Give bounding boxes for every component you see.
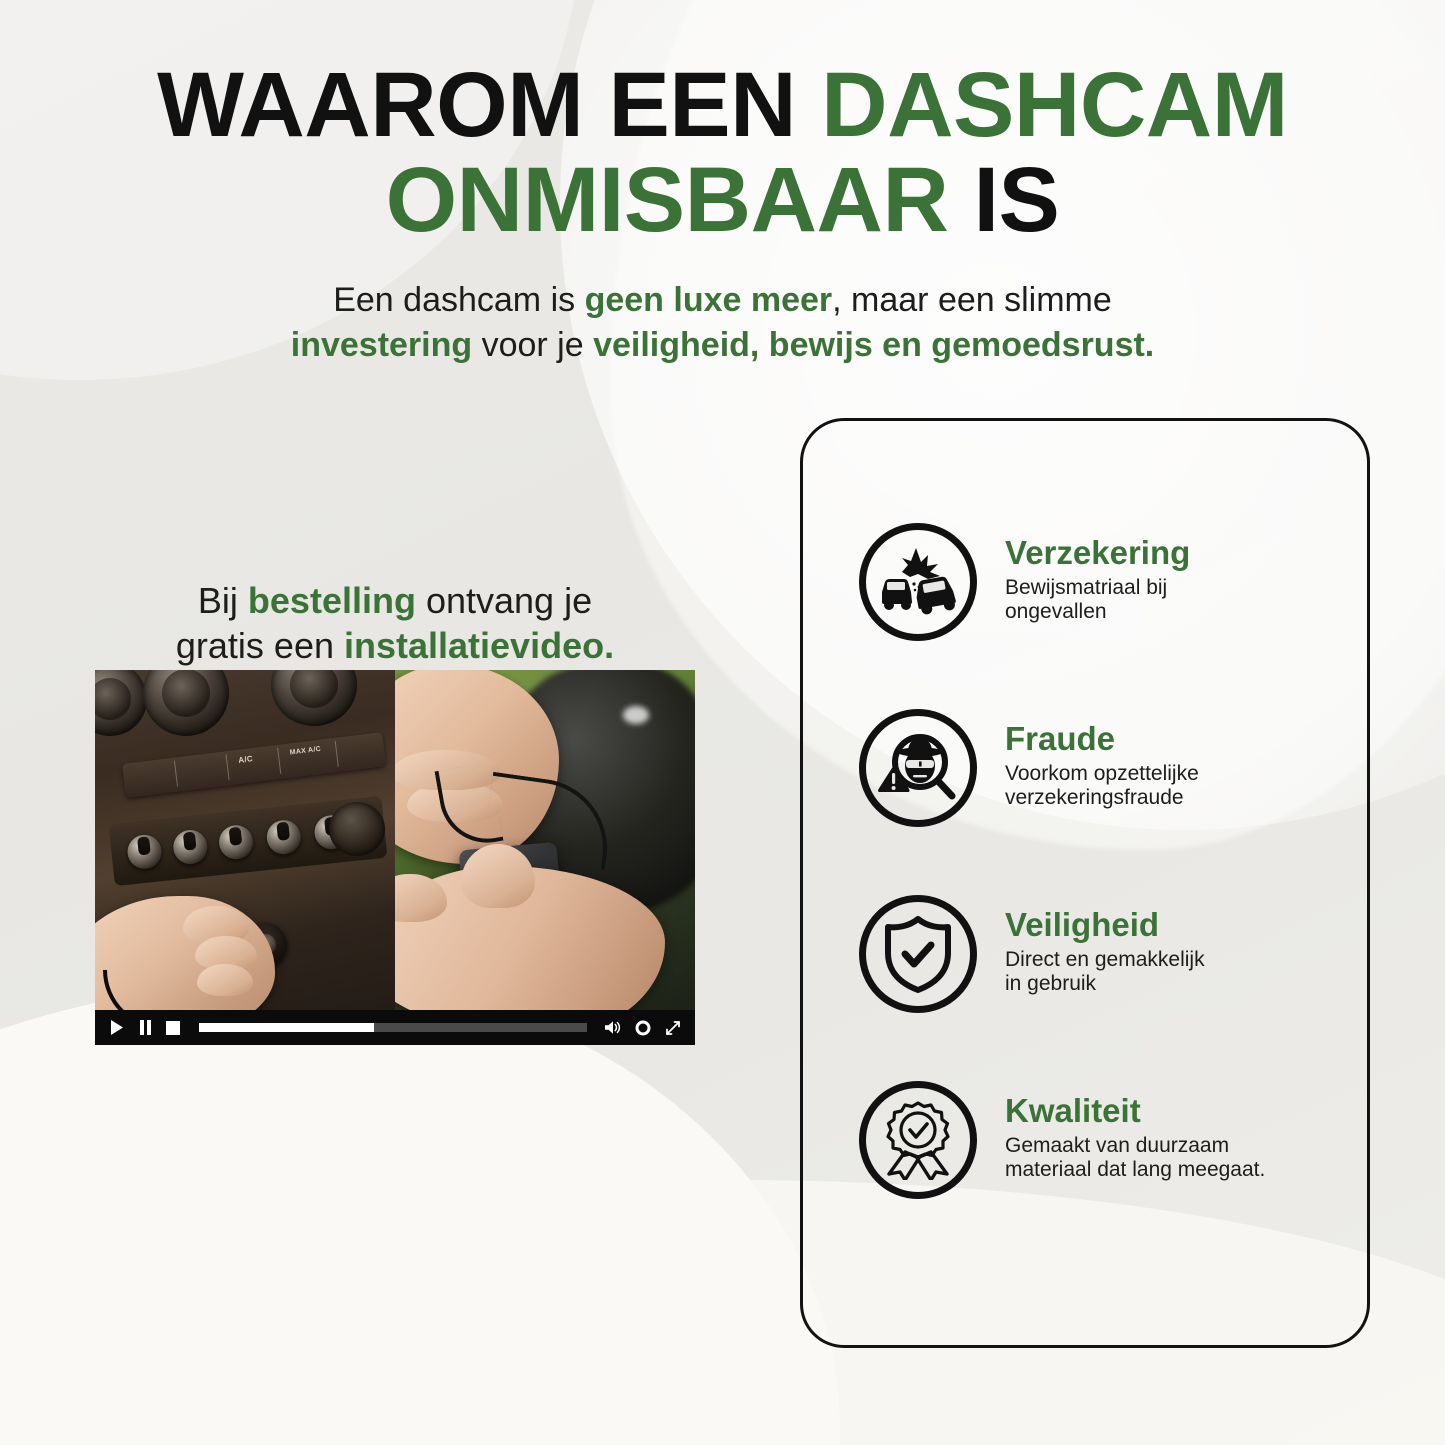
video-controls-bar[interactable]: [95, 1010, 695, 1045]
headline-line-2: ONMISBAAR IS: [0, 153, 1445, 248]
feature-text-verzekering: Verzekering Bewijsmatriaal bij ongevalle…: [977, 523, 1190, 625]
feature-description: Bewijsmatriaal bij ongevallen: [1005, 576, 1190, 625]
volume-icon[interactable]: [605, 1020, 621, 1036]
headline-line-1: WAAROM EEN DASHCAM: [0, 58, 1445, 153]
subtitle-line-2-highlight-b: veiligheid, bewijs en gemoedsrust.: [593, 326, 1154, 364]
feature-item-veiligheid[interactable]: Veiligheid Direct en gemakkelijk in gebr…: [859, 895, 1329, 1081]
feature-panel: Verzekering Bewijsmatriaal bij ongevalle…: [800, 418, 1370, 1348]
feature-text-fraude: Fraude Voorkom opzettelijke verzekerings…: [977, 709, 1199, 811]
car-crash-icon: [859, 523, 977, 641]
stop-icon[interactable]: [165, 1020, 181, 1036]
video-scene-dashcam: [395, 670, 695, 1010]
award-badge-icon: [859, 1081, 977, 1199]
air-vent-icon: [271, 670, 357, 726]
air-vent-icon: [143, 670, 229, 736]
headline-line-2-black: IS: [973, 149, 1059, 251]
subtitle-line-2-plain: voor je: [472, 326, 593, 364]
feature-list: Verzekering Bewijsmatriaal bij ongevalle…: [859, 523, 1329, 1267]
page-title: WAAROM EEN DASHCAM ONMISBAAR IS: [0, 58, 1445, 248]
feature-title: Kwaliteit: [1005, 1093, 1265, 1129]
fraud-magnifier-icon: [859, 709, 977, 827]
video-caption-highlight-a: bestelling: [248, 580, 416, 621]
power-cable: [103, 970, 257, 1010]
headline-line-2-green: ONMISBAAR: [386, 149, 974, 251]
climate-button-strip: A/C MAX A/C: [122, 732, 386, 798]
feature-description: Gemaakt van duurzaam materiaal dat lang …: [1005, 1134, 1265, 1183]
shield-check-icon: [859, 895, 977, 1013]
feature-description: Voorkom opzettelijke verzekeringsfraude: [1005, 762, 1199, 811]
headline-line-1-black: WAAROM EEN: [157, 54, 821, 156]
subtitle-line-1: Een dashcam is geen luxe meer, maar een …: [0, 278, 1445, 323]
video-caption-plain-b: ontvang je: [416, 580, 592, 621]
feature-text-veiligheid: Veiligheid Direct en gemakkelijk in gebr…: [977, 895, 1205, 997]
rotary-dial: [329, 802, 385, 856]
video-progress-bar[interactable]: [199, 1023, 587, 1032]
air-vent-icon: [95, 670, 147, 736]
subtitle-line-2: investering voor je veiligheid, bewijs e…: [0, 323, 1445, 368]
play-icon[interactable]: [109, 1020, 125, 1036]
video-caption-highlight-b: installatievideo.: [344, 625, 614, 666]
poster-canvas: WAAROM EEN DASHCAM ONMISBAAR IS Een dash…: [0, 0, 1445, 1445]
feature-title: Fraude: [1005, 721, 1199, 757]
video-caption: Bij bestelling ontvang je gratis een ins…: [95, 578, 695, 669]
subtitle-line-2-highlight-a: investering: [291, 326, 472, 364]
feature-item-fraude[interactable]: Fraude Voorkom opzettelijke verzekerings…: [859, 709, 1329, 895]
feature-title: Veiligheid: [1005, 907, 1205, 943]
video-frame[interactable]: A/C MAX A/C: [95, 670, 695, 1010]
subtitle-line-1-plain-b: , maar een slimme: [832, 281, 1112, 319]
video-progress-fill: [199, 1023, 374, 1032]
video-caption-line-1: Bij bestelling ontvang je: [95, 578, 695, 623]
headline-line-1-green: DASHCAM: [821, 54, 1288, 156]
fullscreen-icon[interactable]: [665, 1020, 681, 1036]
ac-button-label: A/C: [238, 754, 254, 765]
max-ac-button-label: MAX A/C: [289, 746, 321, 757]
pause-icon[interactable]: [137, 1020, 153, 1036]
feature-item-kwaliteit[interactable]: Kwaliteit Gemaakt van duurzaam materiaal…: [859, 1081, 1329, 1267]
subtitle-line-1-plain-a: Een dashcam is: [333, 281, 584, 319]
subtitle-line-1-highlight: geen luxe meer: [585, 281, 833, 319]
dashboard-scene: A/C MAX A/C: [95, 670, 395, 1010]
feature-title: Verzekering: [1005, 535, 1190, 571]
outdoor-scene: [395, 670, 695, 1010]
feature-description: Direct en gemakkelijk in gebruik: [1005, 948, 1205, 997]
video-caption-line-2: gratis een installatievideo.: [95, 623, 695, 668]
feature-text-kwaliteit: Kwaliteit Gemaakt van duurzaam materiaal…: [977, 1081, 1265, 1183]
feature-item-verzekering[interactable]: Verzekering Bewijsmatriaal bij ongevalle…: [859, 523, 1329, 709]
video-scene-dashboard: A/C MAX A/C: [95, 670, 395, 1010]
video-controls-right[interactable]: [605, 1020, 681, 1036]
gear-icon[interactable]: [635, 1020, 651, 1036]
page-subtitle: Een dashcam is geen luxe meer, maar een …: [0, 278, 1445, 367]
video-caption-plain-c: gratis een: [176, 625, 344, 666]
video-caption-plain-a: Bij: [198, 580, 248, 621]
chrome-highlight: [623, 706, 649, 724]
installation-video-player[interactable]: A/C MAX A/C: [95, 670, 695, 1045]
